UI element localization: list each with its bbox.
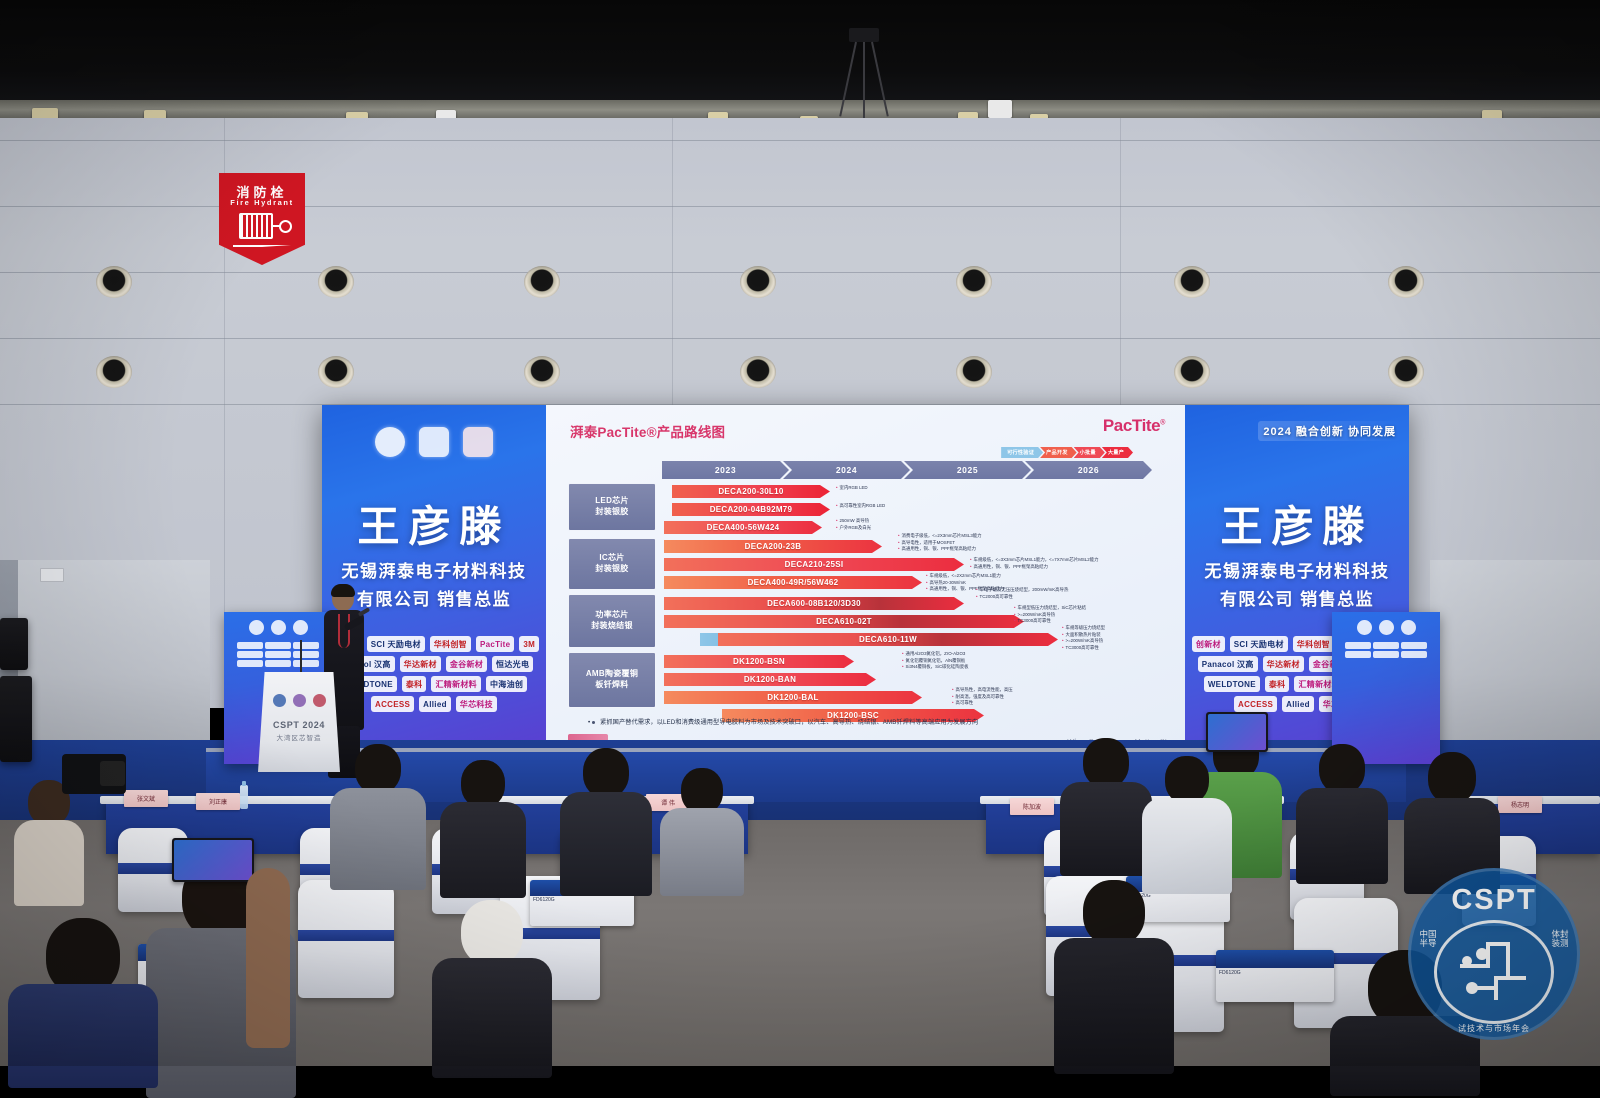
hydrant-label-en: Fire Hydrant	[219, 198, 305, 207]
sponsor-logo: 金谷新材	[446, 656, 487, 672]
sponsor-logo: SCI 天励电材	[367, 636, 425, 652]
audience-member	[330, 744, 426, 884]
bullet-dot-icon	[592, 721, 595, 724]
sponsor-logo: Allied	[419, 696, 451, 712]
audience-head	[583, 748, 629, 798]
roadmap-category-1: LED芯片封装银胶	[568, 483, 656, 531]
roadmap-timeline-axis: 2023202420252026	[662, 461, 1152, 479]
roadmap-bar-DECA210-25SI: DECA210-25SI	[664, 558, 964, 571]
tower-sponsor-logo	[237, 651, 263, 658]
roadmap-bar-DK1200-BAL: DK1200-BAL	[664, 691, 922, 704]
sponsor-logo: WELDTONE	[1204, 676, 1260, 692]
roadmap-bar-DECA400-49R/56W462: DECA400-49R/56W462	[664, 576, 922, 589]
roadmap-category-4: AMB陶瓷覆铜板钎焊料	[568, 652, 656, 708]
audience-member	[14, 780, 84, 900]
watermark-acronym: CSPT	[1408, 884, 1580, 917]
event-theme-tagline: 2024 融合创新 协同发展	[1258, 421, 1401, 441]
name-card: 张文斌	[124, 790, 168, 807]
audience-arm-raised	[240, 868, 296, 1048]
audience-body	[560, 792, 652, 896]
wall-seam	[0, 338, 1600, 339]
audience-head	[461, 900, 523, 966]
tower-logo-icon	[293, 620, 308, 635]
roadmap-bar-DECA200-23B: DECA200-23B	[664, 540, 882, 553]
roadmap-note: 室内RGB LED	[836, 485, 868, 492]
audience-member	[660, 768, 744, 888]
wall-vent-hole	[96, 356, 132, 388]
category-label-line2: 封装银胶	[595, 507, 628, 518]
timeline-year-2024: 2024	[783, 461, 910, 479]
tower-logo-icon	[249, 620, 264, 635]
roadmap-category-2: IC芯片封装银胶	[568, 538, 656, 590]
wall-vent-hole	[956, 266, 992, 298]
slide-title: 湃泰PacTite®产品路线图	[570, 421, 725, 441]
organizer-logo-icon-3	[463, 427, 493, 457]
roadmap-bar-DK1200-BSN: DK1200-BSN	[664, 655, 854, 668]
audience-body	[330, 788, 426, 890]
hydrant-valve-icon	[279, 220, 292, 233]
audience-member	[1404, 752, 1500, 886]
watermark-text-right: 体封装测	[1549, 930, 1571, 948]
roadmap-note: 车规级低，<=3X3mm芯片MSL1能力，<=7X7mm芯片MSL2能力高通用性…	[970, 557, 1098, 570]
sponsor-logo: 泰科	[1265, 676, 1290, 692]
tower-sponsor-logo	[265, 660, 291, 667]
chip-trace	[1506, 942, 1510, 976]
roadmap-note-line: 高通用性，铜、银、PPF框架高粘结力	[898, 546, 982, 553]
watermark-text-bottom: 试技术与市场年会	[1408, 1023, 1580, 1034]
audience-member	[560, 748, 652, 888]
category-label-line1: 功率芯片	[595, 610, 628, 621]
name-card: 杨志明	[1498, 796, 1542, 813]
tower-sponsor-logos	[228, 642, 328, 667]
roadmap-note: 250mW 高导热户外RGB及白光	[836, 518, 871, 531]
roadmap-bar-DECA610-02T: DECA610-02T	[664, 615, 1024, 628]
sponsor-logo: 华达新材	[400, 656, 441, 672]
cspt-watermark: CSPT 中国半导 体封装测 试技术与市场年会	[1408, 868, 1580, 1040]
audience-body	[1296, 788, 1388, 884]
wall-vent-hole	[96, 266, 132, 298]
roadmap-note-line: 车规级低，<=3X3mm芯片MSL1能力，<=7X7mm芯片MSL2能力	[970, 557, 1098, 564]
speaker-name-right: 王彦滕	[1185, 493, 1409, 554]
roadmap-note-line: 车规级低，<=2X2mm芯片MSL1能力	[926, 573, 1004, 580]
sponsor-logo: 华科创智	[430, 636, 471, 652]
audience-body	[440, 802, 526, 898]
watermark-text-left: 中国半导	[1417, 930, 1439, 948]
tower-logo-icon	[271, 620, 286, 635]
wall-vent-hole	[524, 266, 560, 298]
category-label-line2: 封装烧结银	[591, 621, 633, 632]
audience-body	[14, 820, 84, 906]
roadmap-note-line: TC3000高可靠性	[1014, 618, 1086, 625]
tower-sponsor-logo	[1373, 651, 1399, 658]
roadmap-note-line: 高导热性，高电流性能，高压	[952, 687, 1013, 694]
roadmap-note-line: 户外RGB及白光	[836, 525, 871, 532]
timeline-year-2026: 2026	[1025, 461, 1152, 479]
roadmap-note-line: 消费电子级低，<=2X3mm芯片MSL3能力	[898, 533, 982, 540]
sign-text: FD6120G	[1219, 970, 1331, 976]
roadmap-bar-DECA200-04B92M79: DECA200-04B92M79	[672, 503, 830, 516]
registered-mark-icon: ®	[1160, 419, 1165, 426]
tower-sponsor-logo	[1401, 642, 1427, 649]
wall-seam	[0, 272, 1600, 273]
tower-sponsor-logos	[1336, 642, 1436, 658]
audience-body	[1054, 938, 1174, 1074]
roadmap-note: 车规等级压力烧结型大面积散热片贴装>=200W/mK高导热TC3000高可靠性	[1062, 625, 1105, 651]
audience-member	[1060, 738, 1152, 868]
sponsor-logo: 中海油创	[486, 676, 527, 692]
hose-reel-icon	[239, 213, 273, 239]
presenter-lanyard	[338, 614, 350, 648]
tower-sponsor-logo	[1345, 651, 1371, 658]
sponsor-logo: PacTite	[476, 636, 514, 652]
chip-trace	[1494, 976, 1526, 980]
pactite-wordmark: PacTite	[1103, 416, 1160, 435]
wall-seam	[0, 140, 1600, 141]
podium-logos	[258, 694, 340, 707]
organizer-logos-left	[322, 427, 546, 457]
roadmap-note-line: TC2000高可靠性	[976, 594, 1068, 601]
wall-vent-hole	[956, 356, 992, 388]
organizer-logo-icon-1	[375, 427, 405, 457]
audience-head	[1319, 744, 1365, 794]
category-label-line1: IC芯片	[599, 553, 624, 564]
smartphone-recording	[1206, 712, 1268, 752]
pa-speaker-box-bottom	[0, 676, 32, 762]
sponsor-logo: 华达新材	[1263, 656, 1304, 672]
circuit-chip-icon	[1460, 942, 1528, 1002]
name-card: 刘正康	[196, 793, 240, 810]
organizer-logo-icon-2	[419, 427, 449, 457]
roadmap-bar-DECA600-08B120/3D30: DECA600-08B120/3D30	[664, 597, 964, 610]
roadmap-note-line: 通用Al2O3氮化铝，ZrO-Al2O3	[902, 651, 969, 658]
right-sponsor-tower	[1332, 612, 1440, 764]
speaker-affiliation-line1-left: 无锡湃泰电子材料科技	[322, 557, 546, 582]
wall-vent-hole	[1388, 266, 1424, 298]
tower-organizer-logos	[224, 620, 332, 635]
water-bottle	[240, 785, 248, 809]
tower-organizer-logos	[1332, 620, 1440, 635]
roadmap-note: 高可靠性室内RGB LED	[836, 503, 885, 510]
chair-sash	[298, 930, 394, 941]
audience-body	[1060, 782, 1152, 876]
audience-head	[355, 744, 401, 794]
legend-stage-3: 小批量	[1074, 447, 1105, 458]
roadmap-note-line: 高可靠性室内RGB LED	[836, 503, 885, 510]
roadmap-bar-DK1200-BAN: DK1200-BAN	[664, 673, 876, 686]
podium-event-name: CSPT 2024	[258, 720, 340, 730]
sponsor-logo: Panacol 汉高	[1198, 656, 1258, 672]
conference-hall-photo: 消防栓 Fire Hydrant 王彦滕 无锡湃泰电子材料科技 有限公司 销售总…	[0, 0, 1600, 1066]
sponsor-logo: 汇精新材料	[431, 676, 481, 692]
roadmap-note-line: 车电子级及无压压烧结型，200mW/mK高导热	[976, 587, 1068, 594]
roadmap-note-line: 高可靠性	[952, 700, 1013, 707]
audience-head	[1083, 738, 1129, 788]
chip-node	[1476, 948, 1488, 960]
ceiling-box-8	[988, 100, 1012, 118]
wall-switch-plate	[40, 568, 64, 582]
sponsor-logo: 泰科	[402, 676, 427, 692]
roadmap-note-line: 室内RGB LED	[836, 485, 868, 492]
wall-vent-hole	[740, 356, 776, 388]
wall-vent-hole	[1388, 356, 1424, 388]
audience-head	[1428, 752, 1476, 804]
tower-sponsor-logo	[293, 651, 319, 658]
wall-vent-hole	[524, 356, 560, 388]
pa-speaker-box-top	[0, 618, 28, 670]
sponsor-logo: SCI 天励电材	[1230, 636, 1288, 652]
audience-member	[8, 918, 158, 1068]
roadmap-note-line: TC3000高可靠性	[1062, 645, 1105, 652]
chip-trace	[1472, 986, 1496, 990]
raised-arm	[246, 868, 290, 1048]
legend-stage-4: 大量产	[1102, 447, 1133, 458]
tower-logo-icon	[1379, 620, 1394, 635]
roadmap-legend: 可行性验证产品开发小批量大量产	[1001, 447, 1133, 458]
sign-header-band	[1216, 950, 1334, 968]
stage-led-screen: 王彦滕 无锡湃泰电子材料科技 有限公司 销售总监 创新材 SCI 天励电材 华科…	[322, 405, 1409, 752]
roadmap-bar-DECA200-30L10: DECA200-30L10	[672, 485, 830, 498]
right-side-wall	[1430, 560, 1600, 750]
banquet-chair	[298, 880, 394, 998]
roadmap-bar-DECA400-56W424: DECA400-56W424	[664, 521, 822, 534]
legend-stage-2: 产品开发	[1040, 447, 1077, 458]
tower-sponsor-logo	[293, 642, 319, 649]
audience-member	[1142, 756, 1232, 886]
presentation-slide: 湃泰PacTite®产品路线图 PacTite® 可行性验证产品开发小批量大量产…	[546, 405, 1185, 752]
podium-logo-icon	[293, 694, 306, 707]
timeline-year-2023: 2023	[662, 461, 789, 479]
timeline-year-2025: 2025	[904, 461, 1031, 479]
category-label-line2: 板钎焊料	[595, 680, 628, 691]
pactite-brand-logo: PacTite®	[1103, 416, 1165, 436]
roadmap-category-3: 功率芯片封装烧结银	[568, 594, 656, 648]
tower-sponsor-logo	[293, 660, 319, 667]
equipment-floor-sign: FD6120G	[1216, 950, 1334, 1002]
tower-sponsor-logo	[1401, 651, 1427, 658]
category-label-line2: 封装银胶	[595, 564, 628, 575]
wall-vent-hole	[740, 266, 776, 298]
sponsor-logo: Allied	[1282, 696, 1314, 712]
slide-footer-text: 紧抓国产替代需求，以LED和消费级通用型导电胶料为市场及技术突破口，以汽车、高导…	[600, 719, 978, 726]
legend-stage-1: 可行性验证	[1001, 447, 1043, 458]
tower-sponsor-logo	[1345, 642, 1371, 649]
name-card: 陈加波	[1010, 798, 1054, 815]
tower-sponsor-logo	[265, 642, 291, 649]
chip-node	[1462, 956, 1472, 966]
tower-sponsor-logo	[237, 642, 263, 649]
roadmap-note-line: >=200W/mK高导热	[1062, 638, 1105, 645]
phone-screen	[1208, 714, 1266, 750]
audience-body	[660, 808, 744, 896]
wall-vent-hole	[318, 356, 354, 388]
overhead-camera	[849, 28, 879, 42]
audience-member	[1054, 880, 1174, 1066]
audience-head	[1165, 756, 1209, 804]
wall-vent-hole	[1174, 356, 1210, 388]
audience-member	[440, 760, 526, 892]
slide-footer-bullet: 紧抓国产替代需求，以LED和消费级通用型导电胶料为市场及技术突破口，以汽车、高导…	[588, 717, 1167, 726]
podium-logo-icon	[273, 694, 286, 707]
audience-member	[432, 900, 552, 1066]
roadmap-note-line: 高通用性，铜、银、PPF框架高粘结力	[970, 564, 1098, 571]
wall-vent-hole	[318, 266, 354, 298]
roadmap-note: 车规型低压力烧结型，SiC芯片粘结>=200W/mK高导热TC3000高可靠性	[1014, 605, 1086, 625]
sponsor-logo: ACCESS	[1234, 696, 1277, 712]
category-label-line1: LED芯片	[595, 496, 629, 507]
sponsor-logo: 3M	[519, 636, 539, 652]
sponsor-logo: 恒达光电	[492, 656, 533, 672]
speaker-affiliation-line2-right: 有限公司 销售总监	[1185, 585, 1409, 610]
podium-event-subtitle: 大湾区芯智造	[258, 732, 340, 742]
roadmap-note-line: Si3N4覆铜板，SiC碳化硅陶瓷板	[902, 664, 969, 671]
tripod-leg-2	[863, 42, 865, 118]
sponsor-logo: 华芯科技	[456, 696, 497, 712]
camera-lens-icon	[100, 761, 124, 786]
tower-sponsor-logo	[1373, 642, 1399, 649]
video-camera	[62, 754, 126, 794]
roadmap-note-line: 车规等级压力烧结型	[1062, 625, 1105, 632]
overhead-camera-tripod	[845, 28, 881, 118]
audience-head	[1083, 880, 1145, 946]
roadmap-note-line: 车规型低压力烧结型，SiC芯片粘结	[1014, 605, 1086, 612]
roadmap-note: 车电子级及无压压烧结型，200mW/mK高导热TC2000高可靠性	[976, 587, 1068, 600]
audience-member	[1296, 744, 1388, 876]
sponsor-logo: 华科创智	[1293, 636, 1334, 652]
tower-sponsor-logo	[237, 660, 263, 667]
roadmap-note: 消费电子级低，<=2X3mm芯片MSL3能力高导电性，适用于MOSFET高通用性…	[898, 533, 982, 553]
category-label-line1: AMB陶瓷覆铜	[586, 669, 638, 680]
presenter-hair	[331, 584, 355, 597]
tower-logo-icon	[1357, 620, 1372, 635]
roadmap-bar-DECA610-11W: DECA610-11W	[718, 633, 1058, 646]
sponsor-logo: ACCESS	[371, 696, 414, 712]
tower-logo-icon	[1401, 620, 1416, 635]
fire-hydrant-sign: 消防栓 Fire Hydrant	[219, 173, 305, 265]
lectern-podium: CSPT 2024 大湾区芯智造	[258, 672, 340, 772]
roadmap-note: 高导热性，高电流性能，高压耐高温，强度及高可靠性高可靠性	[952, 687, 1013, 707]
speaker-affiliation-line1-right: 无锡湃泰电子材料科技	[1185, 557, 1409, 582]
audience-body	[432, 958, 552, 1078]
podium-logo-icon	[313, 694, 326, 707]
speaker-name-left: 王彦滕	[322, 493, 546, 554]
audience-body	[8, 984, 158, 1088]
wall-vent-hole	[1174, 266, 1210, 298]
audience-head	[461, 760, 505, 808]
sponsor-logo: 创新材	[1192, 636, 1225, 652]
roadmap-note-line: 250mW 高导热	[836, 518, 871, 525]
tower-sponsor-logo	[265, 651, 291, 658]
roadmap-note: 通用Al2O3氮化铝，ZrO-Al2O3氮化铝覆铜氮化铝，AlN覆铜板Si3N4…	[902, 651, 969, 671]
